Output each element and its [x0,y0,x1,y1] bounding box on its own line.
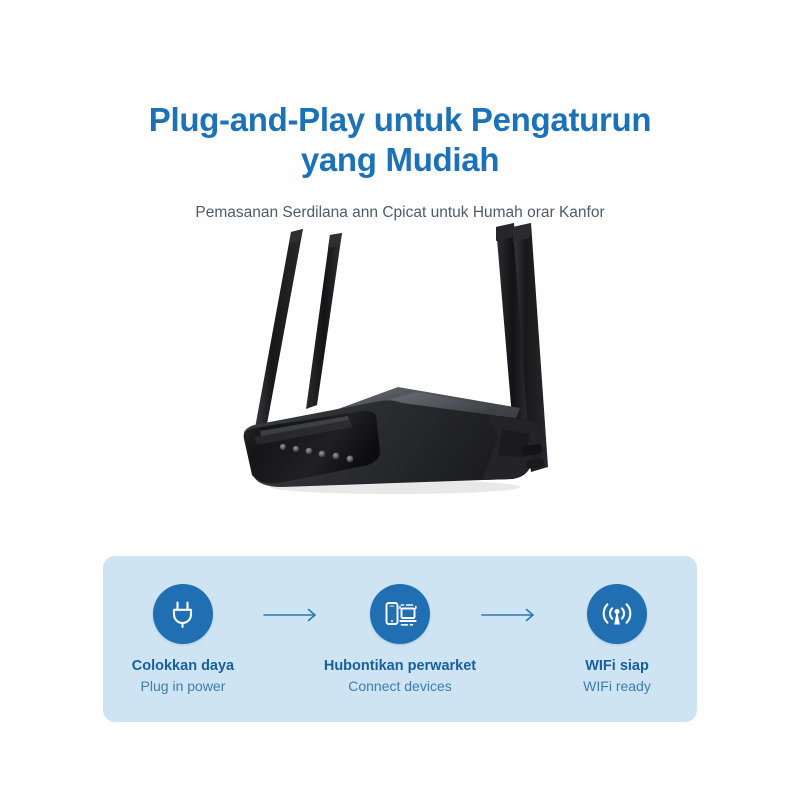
setup-steps-panel: Colokkan daya Plug in power [103,556,697,722]
devices-icon [382,597,418,631]
promo-page: Plug-and-Play untuk Pengaturun yang Mudi… [0,0,800,800]
router-antenna-left-2 [306,233,342,409]
step-label-primary: WIFi siap [585,658,649,675]
router-product-image [230,215,590,520]
arrow-right-icon [263,608,319,622]
wifi-broadcast-icon [599,597,635,631]
setup-steps-row: Colokkan daya Plug in power [103,556,697,722]
router-led [347,456,354,463]
router-led [333,453,340,460]
router-led [280,444,286,450]
router-led [293,446,299,452]
page-title-line-2: yang Mudiah [0,140,800,180]
step-connector-2 [480,556,537,622]
router-led [306,448,313,455]
step-icon-badge [370,584,430,644]
setup-step-plug-in-power[interactable]: Colokkan daya Plug in power [103,556,263,695]
step-label-secondary: Plug in power [141,678,226,695]
setup-step-connect-devices[interactable]: Hubontikan perwarket Connect devices [320,556,480,695]
step-connector-1 [263,556,320,622]
step-label-secondary: Connect devices [348,678,452,695]
step-icon-badge [587,584,647,644]
arrow-right-icon [481,608,537,622]
router-led [319,451,326,458]
router-antenna-left-1 [255,229,303,428]
router-shadow [270,480,520,494]
page-title-line-1: Plug-and-Play untuk Pengaturun [149,101,652,138]
step-icon-badge [153,584,213,644]
step-label-primary: Colokkan daya [132,658,234,675]
step-label-secondary: WIFi ready [583,678,651,695]
page-title: Plug-and-Play untuk Pengaturun yang Mudi… [0,100,800,180]
setup-step-wifi-ready[interactable]: WIFi siap WIFi ready [537,556,697,695]
power-plug-icon [166,597,200,631]
heading-block: Plug-and-Play untuk Pengaturun yang Mudi… [0,100,800,223]
step-label-primary: Hubontikan perwarket [324,658,476,675]
